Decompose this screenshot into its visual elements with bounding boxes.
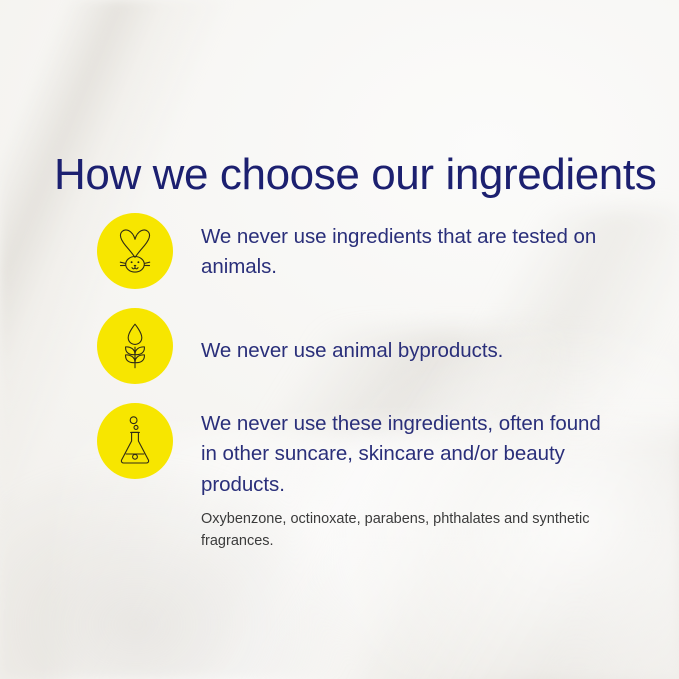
icon-badge (97, 308, 173, 384)
page-title: How we choose our ingredients (54, 151, 656, 199)
ingredient-promise-infographic: How we choose our ingredients (0, 0, 679, 679)
list-item-text: We never use ingredients that are tested… (201, 222, 621, 283)
list-item-title: We never use these ingredients, often fo… (201, 409, 621, 500)
icon-badge (97, 403, 173, 479)
list-item-title: We never use animal byproducts. (201, 336, 621, 366)
list-item-note: Oxybenzone, octinoxate, parabens, phthal… (201, 509, 621, 553)
flask-bubbles-icon (116, 415, 154, 467)
icon-badge (97, 213, 173, 289)
bunny-heart-ears-icon (112, 226, 158, 276)
plant-droplet-icon (115, 321, 155, 371)
list-item-text: We never use these ingredients, often fo… (201, 409, 621, 552)
list-item-title: We never use ingredients that are tested… (201, 222, 621, 283)
list-item-text: We never use animal byproducts. (201, 336, 621, 366)
